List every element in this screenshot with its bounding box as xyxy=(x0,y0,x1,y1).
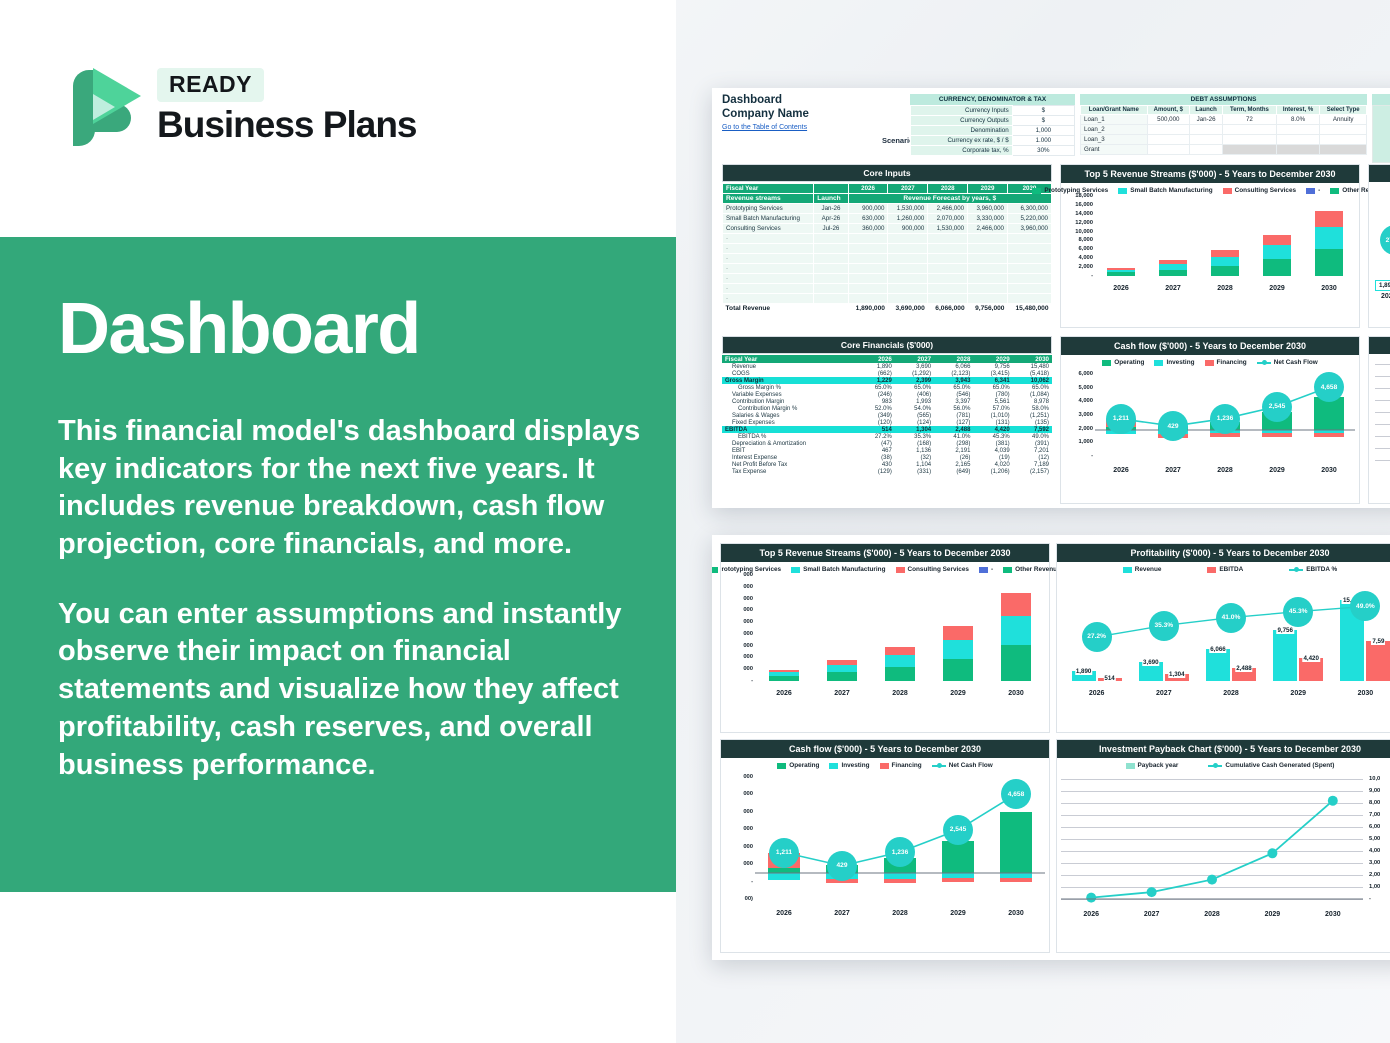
financial-line-label: Gross Margin xyxy=(722,377,859,384)
core-financials-table: Core Financials ($'000) Fiscal Year20262… xyxy=(722,336,1052,475)
legend-line-swatch xyxy=(1208,765,1222,767)
currency-value[interactable]: $ xyxy=(1012,116,1074,126)
y-axis-tick: 18,000 xyxy=(1075,193,1093,199)
revenue-forecast-value[interactable]: 900,000 xyxy=(888,224,928,234)
core-inputs-title: Core Inputs xyxy=(722,164,1052,182)
x-axis-tick: 2028 xyxy=(871,690,929,697)
revenue-forecast-value[interactable]: 2,466,000 xyxy=(928,204,968,214)
chart-title-clipped xyxy=(1369,165,1390,182)
financial-value: (391) xyxy=(1013,440,1052,447)
gridline xyxy=(1375,436,1390,437)
debt-cell[interactable]: Loan_3 xyxy=(1081,135,1148,145)
empty-cell[interactable] xyxy=(1007,234,1051,244)
empty-cell[interactable] xyxy=(968,234,1008,244)
chart-revenue-streams-top[interactable]: Top 5 Revenue Streams ($'000) - 5 Years … xyxy=(1060,164,1360,328)
financial-value: (331) xyxy=(895,468,934,475)
debt-cell[interactable] xyxy=(1223,145,1277,155)
legend-color-swatch xyxy=(1102,360,1111,366)
year-header: 2029 xyxy=(968,184,1008,194)
bar-stack[interactable] xyxy=(1315,196,1342,276)
debt-cell[interactable] xyxy=(1190,125,1223,135)
chart-cash-flow-top[interactable]: Cash flow ($'000) - 5 Years to December … xyxy=(1060,336,1360,504)
dashboard-sheet-bottom[interactable]: Top 5 Revenue Streams ($'000) - 5 Years … xyxy=(712,535,1390,960)
chart-plot xyxy=(1369,354,1390,474)
revenue-forecast-value[interactable]: 900,000 xyxy=(848,204,888,214)
revenue-streams-header: Revenue streams xyxy=(723,194,814,204)
empty-cell[interactable] xyxy=(848,274,888,284)
revenue-stream-launch[interactable]: Jan-26 xyxy=(814,204,848,214)
legend-label: Payback year xyxy=(1138,762,1179,769)
bar-column[interactable] xyxy=(987,575,1045,681)
bar-segment xyxy=(1263,235,1290,245)
revenue-forecast-value[interactable]: 630,000 xyxy=(848,214,888,224)
revenue-stream-name: - xyxy=(723,274,814,284)
bar-column[interactable] xyxy=(929,575,987,681)
debt-cell[interactable]: Grant xyxy=(1081,145,1148,155)
legend-label: Small Batch Manufacturing xyxy=(1130,187,1212,194)
chart-clipped-right-top[interactable]: 27.2%1,8902026 xyxy=(1368,164,1390,328)
y-axis-tick: 000 xyxy=(743,654,753,660)
dashboard-sheet-top[interactable]: Dashboard Company Name Go to the Table o… xyxy=(712,88,1390,508)
y-axis-tick: 1,00 xyxy=(1369,884,1380,890)
x-axis-tick: 2026 xyxy=(1063,690,1130,697)
chart-investment-payback[interactable]: Investment Payback Chart ($'000) - 5 Yea… xyxy=(1056,739,1390,953)
legend-color-swatch xyxy=(1205,360,1214,366)
empty-cell[interactable] xyxy=(814,264,848,274)
empty-cell[interactable] xyxy=(1007,254,1051,264)
revenue-forecast-value[interactable]: 2,466,000 xyxy=(968,224,1008,234)
bar-segment xyxy=(1001,616,1031,646)
revenue-stream-name: - xyxy=(723,284,814,294)
play-triangle-logo-icon xyxy=(63,60,145,152)
empty-cell[interactable] xyxy=(814,254,848,264)
net-cash-flow-label: 2,545 xyxy=(943,815,973,845)
ebitda-percent-label: 35.3% xyxy=(1149,611,1179,641)
legend-color-swatch xyxy=(791,567,800,573)
table-row: Depreciation & Amortization(47)(168)(298… xyxy=(722,440,1052,447)
empty-cell[interactable] xyxy=(928,244,968,254)
legend-color-swatch xyxy=(1003,567,1012,573)
chart-revenue-streams-bottom[interactable]: Top 5 Revenue Streams ($'000) - 5 Years … xyxy=(720,543,1050,733)
financial-value: (127) xyxy=(934,419,973,426)
bar-column[interactable] xyxy=(1199,196,1251,276)
bar-segment xyxy=(1263,245,1290,259)
revenue-forecast-value[interactable]: 6,300,000 xyxy=(1007,204,1051,214)
debt-cell[interactable] xyxy=(1320,125,1367,135)
table-row: Tax Expense(129)(331)(649)(1,206)(2,157) xyxy=(722,468,1052,475)
y-axis-tick: 4,000 xyxy=(1078,398,1093,404)
bar-stack[interactable] xyxy=(1107,196,1134,276)
empty-cell[interactable] xyxy=(814,234,848,244)
bar-stack[interactable] xyxy=(943,575,973,681)
legend-color-swatch xyxy=(1118,188,1127,194)
y-axis-tick: 5,00 xyxy=(1369,836,1380,842)
empty-cell[interactable] xyxy=(1007,284,1051,294)
empty-cell[interactable] xyxy=(928,234,968,244)
empty-cell[interactable] xyxy=(848,234,888,244)
empty-cell[interactable] xyxy=(928,284,968,294)
legend-color-swatch xyxy=(1123,567,1132,573)
currency-row: Currency Outputs$ xyxy=(911,116,1075,126)
debt-cell[interactable] xyxy=(1223,135,1277,145)
financial-value: 65.0% xyxy=(1013,384,1052,391)
currency-value[interactable]: $ xyxy=(1012,106,1074,116)
financial-value: 2,165 xyxy=(934,461,973,468)
legend-color-swatch xyxy=(1032,188,1041,194)
bar-segment xyxy=(827,665,857,672)
spacer xyxy=(814,304,848,314)
legend-label: Financing xyxy=(892,762,922,769)
empty-cell[interactable] xyxy=(888,234,928,244)
financial-value: (12) xyxy=(1013,454,1052,461)
sheet-title: Dashboard xyxy=(722,94,809,108)
ebitda-percent-label: 45.3% xyxy=(1283,597,1313,627)
bar-segment xyxy=(1211,266,1238,276)
total-revenue-value: 3,690,000 xyxy=(888,304,928,314)
bar-column[interactable] xyxy=(1251,196,1303,276)
legend-item: EBITDA xyxy=(1207,566,1243,573)
financial-value: 27.2% xyxy=(859,433,895,440)
empty-cell[interactable] xyxy=(848,254,888,264)
legend-label: Other Revenue xyxy=(1015,566,1060,573)
chart-profitability[interactable]: Profitability ($'000) - 5 Years to Decem… xyxy=(1056,543,1390,733)
bar-column[interactable] xyxy=(1303,196,1355,276)
ebitda-percent-label: 41.0% xyxy=(1216,603,1246,633)
y-axis-tick: 14,000 xyxy=(1075,211,1093,217)
empty-cell[interactable] xyxy=(968,274,1008,284)
y-axis-tick: 000 xyxy=(743,791,753,797)
legend-item: Net Cash Flow xyxy=(932,762,993,769)
empty-cell[interactable] xyxy=(1007,244,1051,254)
ebitda-percent-label-clipped: 27.2% xyxy=(1380,225,1390,255)
debt-cell[interactable] xyxy=(1276,135,1320,145)
financial-value: 7,201 xyxy=(1013,447,1052,454)
debt-cell[interactable] xyxy=(1147,145,1189,155)
empty-cell[interactable] xyxy=(814,244,848,254)
empty-cell[interactable] xyxy=(814,274,848,284)
debt-cell[interactable] xyxy=(1190,135,1223,145)
bar-stack[interactable] xyxy=(827,575,857,681)
financial-value: 1,993 xyxy=(895,398,934,405)
chart-plot: 1,8905143,6901,3046,0662,4889,7564,42015… xyxy=(1057,575,1390,699)
debt-block-caption: DEBT ASSUMPTIONS xyxy=(1080,94,1367,105)
y-axis-tick: 6,000 xyxy=(1078,371,1093,377)
ebitda-percent-label: 27.2% xyxy=(1082,622,1112,652)
empty-cell[interactable] xyxy=(814,284,848,294)
legend-line-swatch xyxy=(932,765,946,767)
y-axis-tick: 4,00 xyxy=(1369,848,1380,854)
bar-stack[interactable] xyxy=(1001,575,1031,681)
debt-cell[interactable]: Jan-26 xyxy=(1190,115,1223,125)
empty-cell[interactable] xyxy=(968,244,1008,254)
empty-cell[interactable] xyxy=(888,284,928,294)
bar-column[interactable] xyxy=(1095,196,1147,276)
bar-segment xyxy=(1001,645,1031,681)
empty-cell[interactable] xyxy=(968,294,1008,304)
debt-cell[interactable] xyxy=(1276,125,1320,135)
empty-cell[interactable] xyxy=(888,274,928,284)
debt-cell[interactable]: Annuity xyxy=(1320,115,1367,125)
financial-line-label: Revenue xyxy=(722,363,859,370)
table-row: Salaries & Wages(349)(565)(781)(1,010)(1… xyxy=(722,412,1052,419)
x-axis-tick: 2026 xyxy=(1095,285,1147,292)
year-header: 2027 xyxy=(895,355,934,363)
revenue-stream-name: - xyxy=(723,254,814,264)
x-axis-tick-clipped: 2026 xyxy=(1381,293,1390,300)
revenue-stream-launch[interactable]: Jul-26 xyxy=(814,224,848,234)
x-axis-tick: 2029 xyxy=(1242,911,1302,918)
cumulative-cash-line xyxy=(1061,771,1363,919)
y-axis-tick: 2,000 xyxy=(1078,264,1093,270)
bar-stack[interactable] xyxy=(1159,196,1186,276)
year-header: 2027 xyxy=(888,184,928,194)
gridline xyxy=(1375,412,1390,413)
empty-cell[interactable] xyxy=(848,294,888,304)
revenue-stream-name: - xyxy=(723,294,814,304)
sheet-header: Dashboard Company Name Go to the Table o… xyxy=(722,94,809,131)
chart-legend: Prototyping ServicesSmall Batch Manufact… xyxy=(1061,183,1359,196)
chart-x-axis: 20262027202820292030 xyxy=(755,690,1045,697)
bar-stack[interactable] xyxy=(769,575,799,681)
currency-row: Denomination1,000 xyxy=(911,126,1075,136)
empty-cell[interactable] xyxy=(888,244,928,254)
legend-item: EBITDA % xyxy=(1289,566,1337,573)
revenue-stream-name: Small Batch Manufacturing xyxy=(723,214,814,224)
revenue-forecast-value[interactable]: 5,220,000 xyxy=(1007,214,1051,224)
x-axis-tick: 2028 xyxy=(1199,467,1251,474)
empty-cell[interactable] xyxy=(968,264,1008,274)
empty-cell[interactable] xyxy=(928,294,968,304)
bar-column[interactable] xyxy=(813,575,871,681)
bar-segment xyxy=(885,647,915,656)
forecast-header: Revenue Forecast by years, $ xyxy=(848,194,1051,204)
empty-cell[interactable] xyxy=(1007,294,1051,304)
x-axis-tick: 2029 xyxy=(1251,467,1303,474)
debt-column-header: Interest, % xyxy=(1276,106,1320,115)
empty-cell[interactable] xyxy=(928,274,968,284)
empty-cell[interactable] xyxy=(928,254,968,264)
empty-cell[interactable] xyxy=(848,244,888,254)
y-axis-tick: 000 xyxy=(743,619,753,625)
chart-title: Top 5 Revenue Streams ($'000) - 5 Years … xyxy=(1061,165,1359,183)
chart-title: Cash flow ($'000) - 5 Years to December … xyxy=(1061,337,1359,355)
chart-title: Investment Payback Chart ($'000) - 5 Yea… xyxy=(1057,740,1390,758)
table-row: Prototyping ServicesJan-26900,0001,530,0… xyxy=(723,204,1052,214)
chart-bars xyxy=(1095,196,1355,276)
working-capital-body: A De xyxy=(1372,105,1390,163)
legend-color-swatch xyxy=(896,567,905,573)
debt-cell[interactable] xyxy=(1320,135,1367,145)
revenue-forecast-value[interactable]: 1,530,000 xyxy=(888,204,928,214)
legend-color-swatch xyxy=(712,567,718,573)
y-axis-tick: 00) xyxy=(745,896,753,902)
financial-value: (19) xyxy=(973,454,1012,461)
table-row: - xyxy=(723,284,1052,294)
gridline xyxy=(1375,364,1390,365)
debt-cell[interactable] xyxy=(1147,135,1189,145)
brand-name: Business Plans xyxy=(157,106,417,145)
bar-segment xyxy=(1315,227,1342,249)
net-cash-flow-label: 429 xyxy=(1158,411,1188,441)
currency-key: Denomination xyxy=(911,126,1013,136)
bar-stack[interactable] xyxy=(1263,196,1290,276)
revenue-stream-name: - xyxy=(723,264,814,274)
financial-value: (38) xyxy=(859,454,895,461)
financial-value: 514 xyxy=(859,426,895,433)
chart-x-axis: 20262027202820292030 xyxy=(1095,467,1355,474)
legend-item: Prototyping Services xyxy=(1032,187,1108,194)
net-cash-flow-label: 1,236 xyxy=(885,837,915,867)
x-axis-tick: 2028 xyxy=(871,910,929,917)
debt-column-header: Launch xyxy=(1190,106,1223,115)
revenue-forecast-value[interactable]: 3,960,000 xyxy=(1007,224,1051,234)
year-header: 2029 xyxy=(973,355,1012,363)
debt-cell[interactable]: Loan_1 xyxy=(1081,115,1148,125)
page-title: Dashboard xyxy=(58,293,658,365)
debt-cell[interactable]: 500,000 xyxy=(1147,115,1189,125)
table-row: Consulting ServicesJul-26360,000900,0001… xyxy=(723,224,1052,234)
y-axis-tick: 16,000 xyxy=(1075,202,1093,208)
total-revenue-row: Total Revenue1,890,0003,690,0006,066,000… xyxy=(723,304,1052,314)
chart-plot: 10,09,008,007,006,005,004,003,002,001,00… xyxy=(1057,771,1390,919)
net-cash-flow-label: 429 xyxy=(827,851,857,881)
bar-column[interactable] xyxy=(755,575,813,681)
financial-line-label: Contribution Margin % xyxy=(722,405,859,412)
financial-value: 7,592 xyxy=(1013,426,1052,433)
table-row: - xyxy=(723,294,1052,304)
legend-color-swatch xyxy=(1126,763,1135,769)
debt-column-header: Amount, $ xyxy=(1147,106,1189,115)
revenue-forecast-value[interactable]: 2,070,000 xyxy=(928,214,968,224)
empty-cell[interactable] xyxy=(888,294,928,304)
total-revenue-value: 6,066,000 xyxy=(928,304,968,314)
chart-clipped-right-bottom[interactable]: Inve xyxy=(1368,336,1390,504)
empty-cell[interactable] xyxy=(1007,274,1051,284)
debt-cell[interactable]: 72 xyxy=(1223,115,1277,125)
debt-cell[interactable] xyxy=(1223,125,1277,135)
bar-segment xyxy=(1211,257,1238,266)
y-axis-tick: 000 xyxy=(743,631,753,637)
debt-column-header: Loan/Grant Name xyxy=(1081,106,1148,115)
chart-legend: RevenueEBITDAEBITDA % xyxy=(1057,562,1390,575)
y-axis-tick: 6,000 xyxy=(1078,246,1093,252)
bar-segment xyxy=(769,676,799,681)
revenue-forecast-value[interactable]: 360,000 xyxy=(848,224,888,234)
empty-cell[interactable] xyxy=(848,264,888,274)
table-row: Small Batch ManufacturingApr-26630,0001,… xyxy=(723,214,1052,224)
debt-cell[interactable] xyxy=(1190,145,1223,155)
y-axis-tick: 5,000 xyxy=(1078,385,1093,391)
bar-segment xyxy=(1263,259,1290,276)
currency-key: Currency ex rate, $ / $ xyxy=(911,136,1013,146)
y-axis-tick: 7,00 xyxy=(1369,812,1380,818)
revenue-forecast-value[interactable]: 3,330,000 xyxy=(968,214,1008,224)
empty-cell[interactable] xyxy=(968,284,1008,294)
bar-segment xyxy=(1315,249,1342,276)
year-header: 2026 xyxy=(848,184,888,194)
financial-value: (2,123) xyxy=(934,370,973,377)
currency-row: Corporate tax, %30% xyxy=(911,146,1075,156)
chart-cash-flow-bottom[interactable]: Cash flow ($'000) - 5 Years to December … xyxy=(720,739,1050,953)
currency-value[interactable]: 1,000 xyxy=(1012,126,1074,136)
debt-cell[interactable]: 8.0% xyxy=(1276,115,1320,125)
debt-cell[interactable] xyxy=(1276,145,1320,155)
table-row: Contribution Margin9831,9933,3975,5618,9… xyxy=(722,398,1052,405)
revenue-stream-name: - xyxy=(723,244,814,254)
company-name: Company Name xyxy=(722,108,809,122)
empty-cell[interactable] xyxy=(888,254,928,264)
bar-column[interactable] xyxy=(871,575,929,681)
y-axis-tick: 1,000 xyxy=(1078,439,1093,445)
y-axis-tick: 12,000 xyxy=(1075,220,1093,226)
empty-cell[interactable] xyxy=(928,264,968,274)
bar-segment xyxy=(1315,211,1342,228)
legend-label: Financing xyxy=(1217,359,1247,366)
bar-stack[interactable] xyxy=(1211,196,1238,276)
working-capital-line-2: De xyxy=(1383,140,1390,146)
x-axis-tick: 2026 xyxy=(1061,911,1121,918)
legend-item: Payback year xyxy=(1126,762,1179,769)
financial-line-label: Net Profit Before Tax xyxy=(722,461,859,468)
empty-cell[interactable] xyxy=(968,254,1008,264)
left-bottom-white-panel xyxy=(0,892,676,1043)
core-inputs-stream-header: Revenue streamsLaunchRevenue Forecast by… xyxy=(723,194,1052,204)
currency-value[interactable]: 1.000 xyxy=(1012,136,1074,146)
empty-cell[interactable] xyxy=(1007,264,1051,274)
revenue-stream-launch[interactable]: Apr-26 xyxy=(814,214,848,224)
revenue-forecast-value[interactable]: 1,530,000 xyxy=(928,224,968,234)
x-axis-tick: 2027 xyxy=(1147,285,1199,292)
currency-value[interactable]: 30% xyxy=(1012,146,1074,156)
financial-value: (781) xyxy=(934,412,973,419)
bar-column[interactable] xyxy=(1147,196,1199,276)
financial-value: (349) xyxy=(859,412,895,419)
core-financials-title: Core Financials ($'000) xyxy=(722,336,1052,354)
revenue-stream-name: Prototyping Services xyxy=(723,204,814,214)
x-axis-tick: 2026 xyxy=(1095,467,1147,474)
legend-label: Net Cash Flow xyxy=(1274,359,1318,366)
revenue-forecast-value[interactable]: 3,960,000 xyxy=(968,204,1008,214)
financial-value: 49.0% xyxy=(1013,433,1052,440)
launch-header: Launch xyxy=(814,194,848,204)
debt-cell[interactable] xyxy=(1320,145,1367,155)
table-of-contents-link[interactable]: Go to the Table of Contents xyxy=(722,124,809,131)
debt-cell[interactable]: Loan_2 xyxy=(1081,125,1148,135)
y-axis-tick: 000 xyxy=(743,809,753,815)
table-row: Grant xyxy=(1081,145,1367,155)
empty-cell[interactable] xyxy=(888,264,928,274)
empty-cell[interactable] xyxy=(848,284,888,294)
x-axis-tick: 2028 xyxy=(1199,285,1251,292)
x-axis-tick: 2030 xyxy=(1332,690,1390,697)
financial-value: (246) xyxy=(859,391,895,398)
financial-value: 10,062 xyxy=(1013,377,1052,384)
total-revenue-label: Total Revenue xyxy=(723,304,814,314)
chart-y-axis: 000000000000000000000000000- xyxy=(721,575,755,699)
financial-value: (3,415) xyxy=(973,370,1012,377)
revenue-forecast-value[interactable]: 1,260,000 xyxy=(888,214,928,224)
debt-cell[interactable] xyxy=(1147,125,1189,135)
hero-section: Dashboard This financial model's dashboa… xyxy=(58,293,658,784)
bar-stack[interactable] xyxy=(885,575,915,681)
empty-cell[interactable] xyxy=(814,294,848,304)
bar-segment xyxy=(1107,272,1134,276)
financial-value: 1,104 xyxy=(895,461,934,468)
financial-value: (1,292) xyxy=(895,370,934,377)
chart-y-axis: 18,00016,00014,00012,00010,0008,0006,000… xyxy=(1061,196,1095,294)
legend-item: Other Revenue xyxy=(1003,566,1060,573)
financial-value: (565) xyxy=(895,412,934,419)
